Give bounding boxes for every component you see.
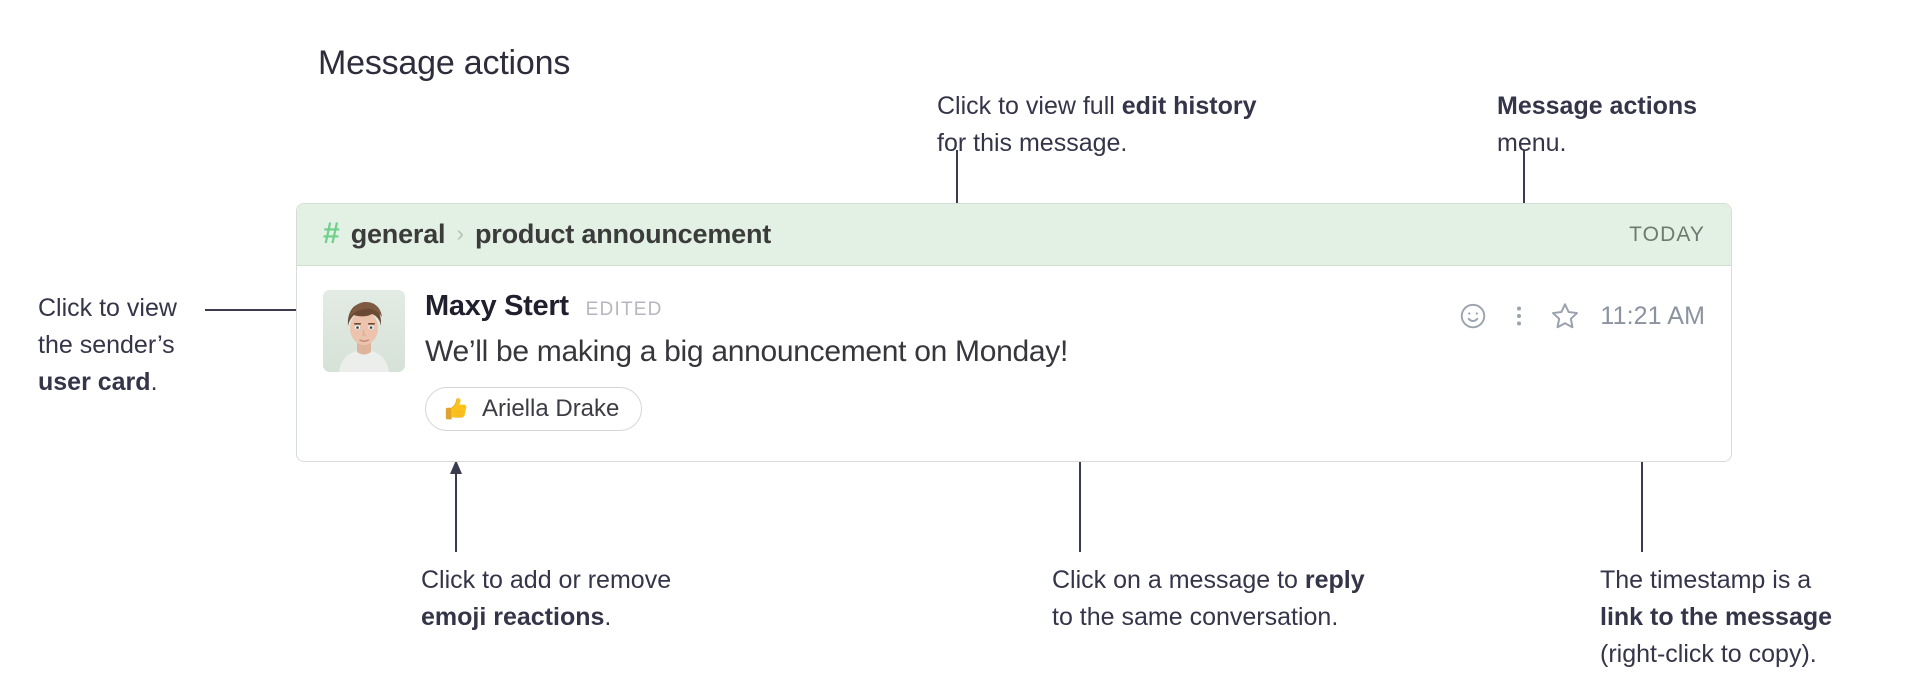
message-actions-menu-icon[interactable]: [1496, 296, 1542, 336]
annotation-actions-menu-line2: menu.: [1497, 125, 1697, 162]
date-label: TODAY: [1629, 223, 1705, 247]
annotation-user-card-line1: Click to view: [38, 290, 177, 327]
annotation-reply-line1-bold: reply: [1305, 566, 1365, 594]
annotation-user-card-line3-post: .: [151, 368, 158, 396]
topic-name[interactable]: product announcement: [475, 219, 771, 250]
annotation-user-card: Click to view the sender’s user card.: [38, 290, 177, 401]
emoji-reaction-icon[interactable]: [1450, 296, 1496, 336]
annotation-user-card-line3-bold: user card: [38, 368, 151, 396]
annotation-edit-history-line2: for this message.: [937, 125, 1257, 162]
annotation-timestamp-line3: (right-click to copy).: [1600, 636, 1832, 673]
annotation-edit-history: Click to view full edit history for this…: [937, 88, 1257, 162]
annotation-timestamp-link: The timestamp is a link to the message (…: [1600, 562, 1832, 673]
sender-name[interactable]: Maxy Stert: [425, 290, 569, 323]
annotation-actions-menu: Message actions menu.: [1497, 88, 1697, 162]
page-title: Message actions: [318, 44, 570, 83]
annotation-actions-menu-line1-bold: Message actions: [1497, 92, 1697, 120]
annotation-reply-line1-pre: Click on a message to: [1052, 566, 1305, 594]
avatar[interactable]: [323, 290, 405, 372]
message-row[interactable]: Maxy Stert EDITED We’ll be making a big …: [297, 266, 1731, 461]
annotation-edit-history-line1-pre: Click to view full: [937, 92, 1122, 120]
message-timestamp[interactable]: 11:21 AM: [1600, 302, 1705, 331]
channel-header-bar: # general › product announcement TODAY: [297, 204, 1731, 266]
annotation-user-card-line2: the sender’s: [38, 327, 177, 364]
message-card: # general › product announcement TODAY: [296, 203, 1732, 462]
message-action-icons: 11:21 AM: [1450, 296, 1705, 336]
illustration-stage: Message actions Click to view full edit …: [0, 0, 1924, 696]
edited-badge[interactable]: EDITED: [586, 299, 663, 321]
message-body-text[interactable]: We’ll be making a big announcement on Mo…: [425, 335, 1705, 369]
annotation-edit-history-line1-bold: edit history: [1122, 92, 1257, 120]
reaction-pill[interactable]: Ariella Drake: [425, 387, 642, 431]
reactions-row: Ariella Drake: [425, 387, 1705, 431]
annotation-timestamp-line1: The timestamp is a: [1600, 562, 1832, 599]
thumbs-up-icon: [440, 394, 470, 424]
annotation-reply: Click on a message to reply to the same …: [1052, 562, 1365, 636]
annotation-timestamp-line2-bold: link to the message: [1600, 603, 1832, 631]
annotation-emoji-reactions: Click to add or remove emoji reactions.: [421, 562, 671, 636]
annotation-emoji-line1: Click to add or remove: [421, 562, 671, 599]
channel-name[interactable]: general: [351, 219, 446, 250]
chevron-right-icon: ›: [456, 220, 464, 247]
annotation-reply-line2: to the same conversation.: [1052, 599, 1365, 636]
hash-icon: #: [323, 219, 340, 249]
reaction-label: Ariella Drake: [482, 395, 619, 423]
annotation-emoji-line2-post: .: [604, 603, 611, 631]
connector-emoji-arrowhead: [450, 460, 462, 474]
annotation-emoji-line2-bold: emoji reactions: [421, 603, 604, 631]
star-icon[interactable]: [1542, 296, 1588, 336]
